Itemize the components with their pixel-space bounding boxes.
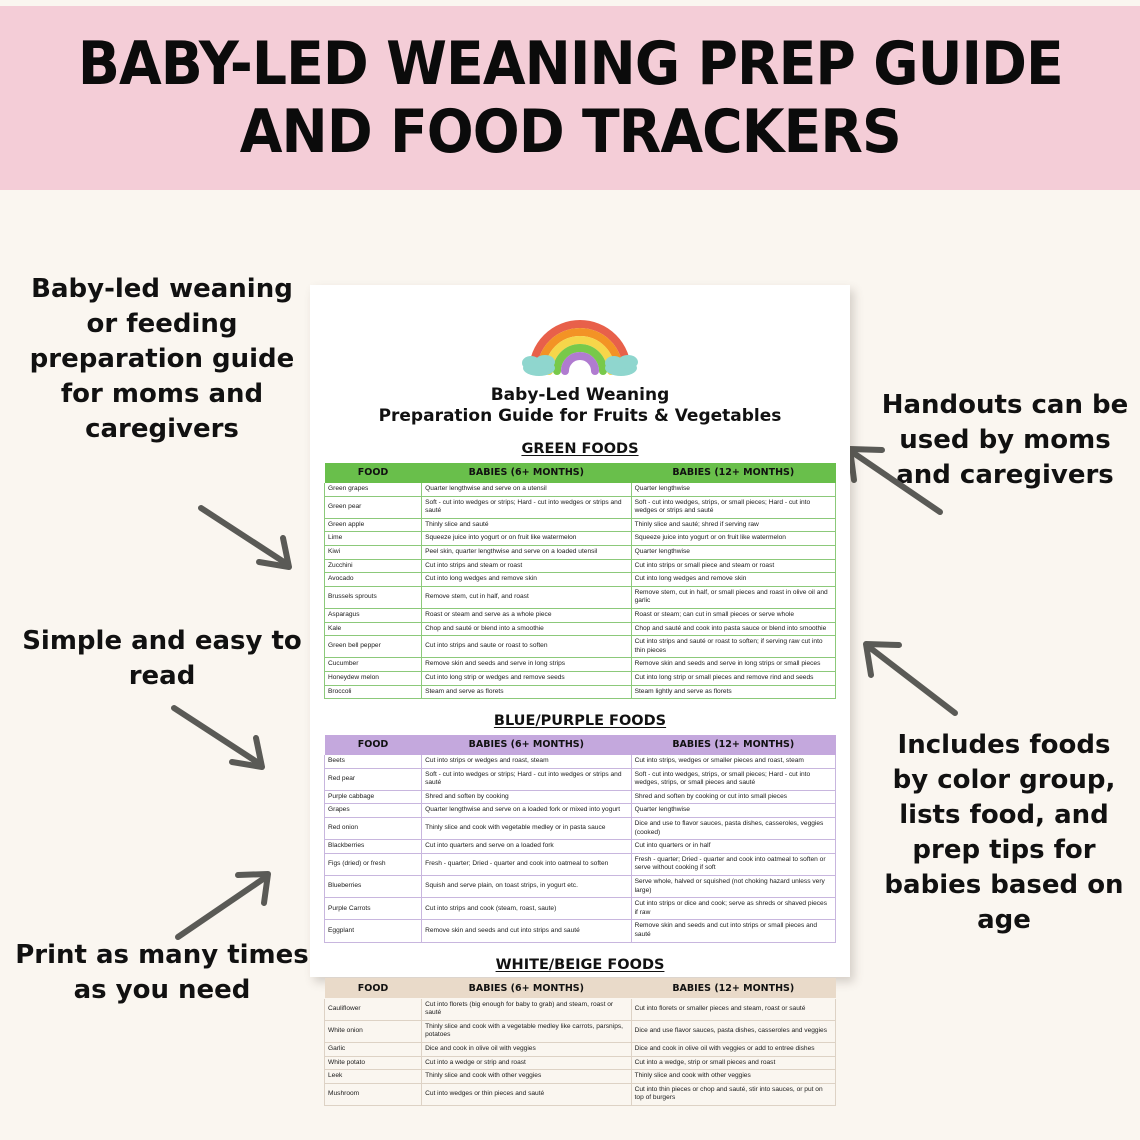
cell-food: White onion xyxy=(325,1020,422,1042)
cell-12-months: Soft - cut into wedges, strips, or small… xyxy=(631,768,835,790)
cell-6-months: Cut into florets (big enough for baby to… xyxy=(422,998,632,1020)
cell-12-months: Serve whole, halved or squished (not cho… xyxy=(631,876,835,898)
document-title-line-2: Preparation Guide for Fruits & Vegetable… xyxy=(324,406,836,427)
table-row: White potatoCut into a wedge or strip an… xyxy=(325,1056,836,1070)
cell-food: Purple Carrots xyxy=(325,898,422,920)
cell-12-months: Shred and soften by cooking or cut into … xyxy=(631,790,835,804)
cell-12-months: Quarter lengthwise xyxy=(631,545,835,559)
table-row: BroccoliSteam and serve as floretsSteam … xyxy=(325,685,836,699)
cell-6-months: Squish and serve plain, on toast strips,… xyxy=(422,876,632,898)
cell-12-months: Cut into strips, wedges or smaller piece… xyxy=(631,755,835,769)
table-row: Figs (dried) or freshFresh - quarter; Dr… xyxy=(325,853,836,875)
cell-12-months: Chop and sauté and cook into pasta sauce… xyxy=(631,622,835,636)
table-row: Green pearSoft - cut into wedges or stri… xyxy=(325,496,836,518)
cell-6-months: Cut into strips and cook (steam, roast, … xyxy=(422,898,632,920)
annotation-left-middle: Simple and easy to read xyxy=(12,624,312,694)
cell-6-months: Shred and soften by cooking xyxy=(422,790,632,804)
table-row: BlackberriesCut into quarters and serve … xyxy=(325,840,836,854)
cell-food: Green pear xyxy=(325,496,422,518)
cell-12-months: Roast or steam; can cut in small pieces … xyxy=(631,608,835,622)
cell-12-months: Quarter lengthwise xyxy=(631,483,835,497)
table-row: GarlicDice and cook in olive oil with ve… xyxy=(325,1042,836,1056)
table-header-row: FOOD BABIES (6+ MONTHS) BABIES (12+ MONT… xyxy=(325,735,836,755)
cell-6-months: Chop and sauté or blend into a smoothie xyxy=(422,622,632,636)
cell-12-months: Cut into quarters or in half xyxy=(631,840,835,854)
document-title-line-1: Baby-Led Weaning xyxy=(324,385,836,406)
cell-food: Kiwi xyxy=(325,545,422,559)
annotation-left-top: Baby-led weaning or feeding preparation … xyxy=(12,272,312,447)
column-header-6-months: BABIES (6+ MONTHS) xyxy=(422,463,632,483)
cell-6-months: Soft - cut into wedges or strips; Hard -… xyxy=(422,496,632,518)
cell-food: Broccoli xyxy=(325,685,422,699)
cell-6-months: Squeeze juice into yogurt or on fruit li… xyxy=(422,532,632,546)
cell-food: Garlic xyxy=(325,1042,422,1056)
cell-6-months: Dice and cook in olive oil with veggies xyxy=(422,1042,632,1056)
cell-food: Blackberries xyxy=(325,840,422,854)
food-table-green: FOOD BABIES (6+ MONTHS) BABIES (12+ MONT… xyxy=(324,462,836,699)
cell-food: Red pear xyxy=(325,768,422,790)
rainbow-illustration xyxy=(324,311,836,379)
cell-6-months: Cut into long wedges and remove skin xyxy=(422,573,632,587)
table-row: MushroomCut into wedges or thin pieces a… xyxy=(325,1083,836,1105)
table-row: Red pearSoft - cut into wedges or strips… xyxy=(325,768,836,790)
arrow-left-middle-icon xyxy=(168,700,278,780)
table-row: Green grapesQuarter lengthwise and serve… xyxy=(325,483,836,497)
cell-food: Lime xyxy=(325,532,422,546)
table-row: LeekThinly slice and cook with other veg… xyxy=(325,1070,836,1084)
cell-12-months: Remove skin and seeds and serve in long … xyxy=(631,658,835,672)
cell-12-months: Quarter lengthwise xyxy=(631,804,835,818)
table-row: CucumberRemove skin and seeds and serve … xyxy=(325,658,836,672)
table-row: GrapesQuarter lengthwise and serve on a … xyxy=(325,804,836,818)
cell-food: White potato xyxy=(325,1056,422,1070)
table-row: AsparagusRoast or steam and serve as a w… xyxy=(325,608,836,622)
cell-12-months: Steam lightly and serve as florets xyxy=(631,685,835,699)
cell-6-months: Steam and serve as florets xyxy=(422,685,632,699)
table-row: Purple CarrotsCut into strips and cook (… xyxy=(325,898,836,920)
cell-food: Beets xyxy=(325,755,422,769)
table-row: Purple cabbageShred and soften by cookin… xyxy=(325,790,836,804)
column-header-6-months: BABIES (6+ MONTHS) xyxy=(422,735,632,755)
food-table-blue-purple: FOOD BABIES (6+ MONTHS) BABIES (12+ MONT… xyxy=(324,734,836,943)
cell-6-months: Remove stem, cut in half, and roast xyxy=(422,586,632,608)
cell-food: Zucchini xyxy=(325,559,422,573)
table-row: Honeydew melonCut into long strip or wed… xyxy=(325,671,836,685)
banner: BABY-LED WEANING PREP GUIDE AND FOOD TRA… xyxy=(0,6,1140,190)
table-row: KaleChop and sauté or blend into a smoot… xyxy=(325,622,836,636)
column-header-food: FOOD xyxy=(325,978,422,998)
table-row: Green bell pepperCut into strips and sau… xyxy=(325,636,836,658)
annotation-right-bottom: Includes foods by color group, lists foo… xyxy=(876,728,1132,938)
arrow-right-bottom-icon xyxy=(855,635,965,720)
table-row: Brussels sproutsRemove stem, cut in half… xyxy=(325,586,836,608)
cell-6-months: Thinly slice and cook with vegetable med… xyxy=(422,818,632,840)
cell-12-months: Cut into strips or dice and cook; serve … xyxy=(631,898,835,920)
cell-12-months: Remove stem, cut in half, or small piece… xyxy=(631,586,835,608)
arrow-left-top-icon xyxy=(195,500,305,580)
table-row: BlueberriesSquish and serve plain, on to… xyxy=(325,876,836,898)
section-heading-green: GREEN FOODS xyxy=(324,441,836,457)
cell-6-months: Quarter lengthwise and serve on a utensi… xyxy=(422,483,632,497)
cell-food: Blueberries xyxy=(325,876,422,898)
cell-6-months: Thinly slice and sauté xyxy=(422,518,632,532)
cell-12-months: Cut into thin pieces or chop and sauté, … xyxy=(631,1083,835,1105)
cell-food: Cucumber xyxy=(325,658,422,672)
cell-6-months: Cut into quarters and serve on a loaded … xyxy=(422,840,632,854)
cell-6-months: Remove skin and seeds and cut into strip… xyxy=(422,920,632,942)
cell-food: Honeydew melon xyxy=(325,671,422,685)
annotation-left-bottom: Print as many times as you need xyxy=(12,938,312,1008)
cell-12-months: Cut into long wedges and remove skin xyxy=(631,573,835,587)
cell-12-months: Dice and use flavor sauces, pasta dishes… xyxy=(631,1020,835,1042)
section-heading-blue-purple: BLUE/PURPLE FOODS xyxy=(324,713,836,729)
table-body-blue-purple: BeetsCut into strips or wedges and roast… xyxy=(325,755,836,943)
cell-12-months: Soft - cut into wedges, strips, or small… xyxy=(631,496,835,518)
cell-food: Figs (dried) or fresh xyxy=(325,853,422,875)
banner-title-line-2: AND FOOD TRACKERS xyxy=(239,98,900,166)
table-row: ZucchiniCut into strips and steam or roa… xyxy=(325,559,836,573)
cell-food: Red onion xyxy=(325,818,422,840)
cell-6-months: Quarter lengthwise and serve on a loaded… xyxy=(422,804,632,818)
cell-6-months: Cut into strips and steam or roast xyxy=(422,559,632,573)
cell-6-months: Cut into strips or wedges and roast, ste… xyxy=(422,755,632,769)
table-row: AvocadoCut into long wedges and remove s… xyxy=(325,573,836,587)
cell-12-months: Dice and use to flavor sauces, pasta dis… xyxy=(631,818,835,840)
cell-12-months: Cut into strips or small piece and steam… xyxy=(631,559,835,573)
column-header-12-months: BABIES (12+ MONTHS) xyxy=(631,463,835,483)
arrow-left-bottom-icon xyxy=(168,865,278,945)
cell-12-months: Cut into florets or smaller pieces and s… xyxy=(631,998,835,1020)
cell-food: Asparagus xyxy=(325,608,422,622)
table-row: Red onionThinly slice and cook with vege… xyxy=(325,818,836,840)
cell-6-months: Cut into a wedge or strip and roast xyxy=(422,1056,632,1070)
cell-12-months: Fresh - quarter; Dried - quarter and coo… xyxy=(631,853,835,875)
cell-12-months: Thinly slice and cook with other veggies xyxy=(631,1070,835,1084)
table-row: CauliflowerCut into florets (big enough … xyxy=(325,998,836,1020)
cell-6-months: Peel skin, quarter lengthwise and serve … xyxy=(422,545,632,559)
rainbow-icon xyxy=(515,311,645,379)
cell-12-months: Cut into strips and sauté or roast to so… xyxy=(631,636,835,658)
cell-12-months: Thinly slice and sauté; shred if serving… xyxy=(631,518,835,532)
table-row: KiwiPeel skin, quarter lengthwise and se… xyxy=(325,545,836,559)
cell-6-months: Cut into wedges or thin pieces and sauté xyxy=(422,1083,632,1105)
cell-food: Purple cabbage xyxy=(325,790,422,804)
cell-12-months: Cut into a wedge, strip or small pieces … xyxy=(631,1056,835,1070)
cell-6-months: Cut into long strip or wedges and remove… xyxy=(422,671,632,685)
column-header-food: FOOD xyxy=(325,735,422,755)
cell-6-months: Cut into strips and saute or roast to so… xyxy=(422,636,632,658)
cell-food: Mushroom xyxy=(325,1083,422,1105)
column-header-12-months: BABIES (12+ MONTHS) xyxy=(631,735,835,755)
cell-12-months: Dice and cook in olive oil with veggies … xyxy=(631,1042,835,1056)
cell-6-months: Thinly slice and cook with other veggies xyxy=(422,1070,632,1084)
banner-title-line-1: BABY-LED WEANING PREP GUIDE xyxy=(77,30,1062,98)
cell-food: Green apple xyxy=(325,518,422,532)
table-row: LimeSqueeze juice into yogurt or on frui… xyxy=(325,532,836,546)
table-row: BeetsCut into strips or wedges and roast… xyxy=(325,755,836,769)
cell-food: Leek xyxy=(325,1070,422,1084)
cell-food: Eggplant xyxy=(325,920,422,942)
cell-6-months: Soft - cut into wedges or strips; Hard -… xyxy=(422,768,632,790)
cell-food: Kale xyxy=(325,622,422,636)
cell-6-months: Remove skin and seeds and serve in long … xyxy=(422,658,632,672)
table-row: White onionThinly slice and cook with a … xyxy=(325,1020,836,1042)
table-header-row: FOOD BABIES (6+ MONTHS) BABIES (12+ MONT… xyxy=(325,463,836,483)
table-row: Green appleThinly slice and sautéThinly … xyxy=(325,518,836,532)
cell-12-months: Squeeze juice into yogurt or on fruit li… xyxy=(631,532,835,546)
cell-12-months: Remove skin and seeds and cut into strip… xyxy=(631,920,835,942)
table-row: EggplantRemove skin and seeds and cut in… xyxy=(325,920,836,942)
cell-6-months: Fresh - quarter; Dried - quarter and coo… xyxy=(422,853,632,875)
cell-6-months: Thinly slice and cook with a vegetable m… xyxy=(422,1020,632,1042)
column-header-12-months: BABIES (12+ MONTHS) xyxy=(631,978,835,998)
table-body-green: Green grapesQuarter lengthwise and serve… xyxy=(325,483,836,699)
arrow-right-top-icon xyxy=(840,440,950,520)
cell-6-months: Roast or steam and serve as a whole piec… xyxy=(422,608,632,622)
column-header-6-months: BABIES (6+ MONTHS) xyxy=(422,978,632,998)
table-header-row: FOOD BABIES (6+ MONTHS) BABIES (12+ MONT… xyxy=(325,978,836,998)
cell-food: Grapes xyxy=(325,804,422,818)
printable-page[interactable]: Baby-Led Weaning Preparation Guide for F… xyxy=(310,285,850,977)
column-header-food: FOOD xyxy=(325,463,422,483)
cell-food: Cauliflower xyxy=(325,998,422,1020)
cell-food: Avocado xyxy=(325,573,422,587)
section-heading-white-beige: WHITE/BEIGE FOODS xyxy=(324,957,836,973)
table-body-white-beige: CauliflowerCut into florets (big enough … xyxy=(325,998,836,1105)
cell-food: Brussels sprouts xyxy=(325,586,422,608)
food-table-white-beige: FOOD BABIES (6+ MONTHS) BABIES (12+ MONT… xyxy=(324,978,836,1106)
cell-12-months: Cut into long strip or small pieces and … xyxy=(631,671,835,685)
cell-food: Green grapes xyxy=(325,483,422,497)
cell-food: Green bell pepper xyxy=(325,636,422,658)
poster-canvas: BABY-LED WEANING PREP GUIDE AND FOOD TRA… xyxy=(0,0,1140,1140)
